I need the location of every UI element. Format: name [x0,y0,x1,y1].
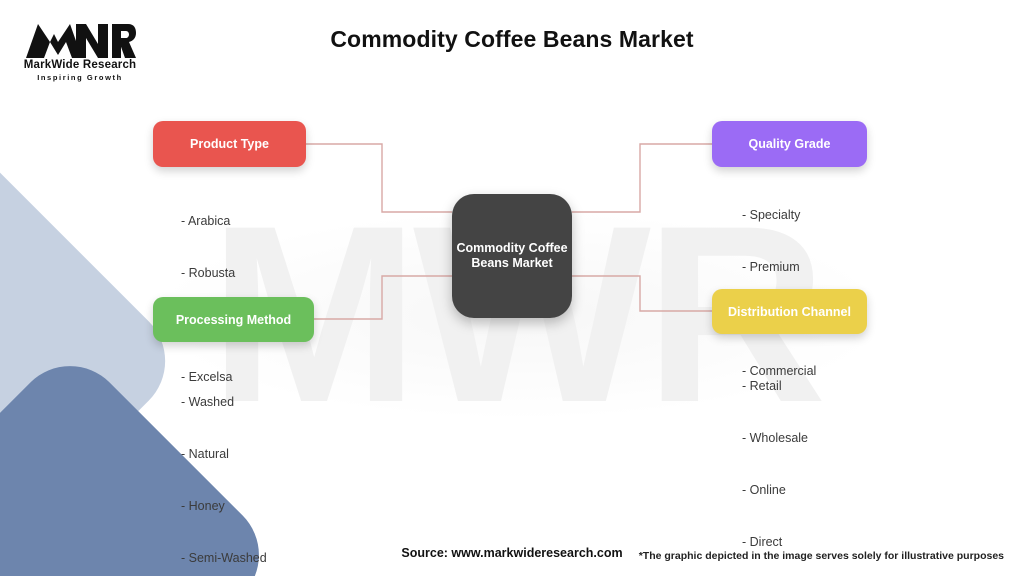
list-item: - Honey [181,498,267,515]
node-processing-method-label: Processing Method [170,313,297,327]
list-item: - Retail [742,378,808,395]
connector-processing-method [314,276,452,319]
center-node[interactable]: Commodity Coffee Beans Market [452,194,572,318]
list-item: - Online [742,482,808,499]
connector-quality-grade [572,144,712,212]
center-node-line2: Beans Market [471,256,552,271]
node-quality-grade-label: Quality Grade [743,137,837,151]
connector-product-type [306,144,452,212]
connector-distribution-channel [572,276,712,311]
list-distribution-channel: - Retail - Wholesale - Online - Direct [742,343,808,576]
list-item: - Washed [181,394,267,411]
list-item: - Arabica [181,213,235,230]
node-processing-method[interactable]: Processing Method [153,297,314,342]
node-distribution-channel-label: Distribution Channel [722,305,857,319]
node-quality-grade[interactable]: Quality Grade [712,121,867,167]
center-node-line1: Commodity Coffee [456,241,567,256]
node-product-type[interactable]: Product Type [153,121,306,167]
list-item: - Natural [181,446,267,463]
list-item: - Robusta [181,265,235,282]
list-processing-method: - Washed - Natural - Honey - Semi-Washed [181,359,267,576]
list-item: - Wholesale [742,430,808,447]
node-distribution-channel[interactable]: Distribution Channel [712,289,867,334]
infographic-canvas: MWR MarkWide Research Inspiring Growth C… [0,0,1024,576]
disclaimer-text: *The graphic depicted in the image serve… [639,550,1004,562]
node-product-type-label: Product Type [184,137,275,151]
list-item: - Specialty [742,207,816,224]
list-item: - Premium [742,259,816,276]
